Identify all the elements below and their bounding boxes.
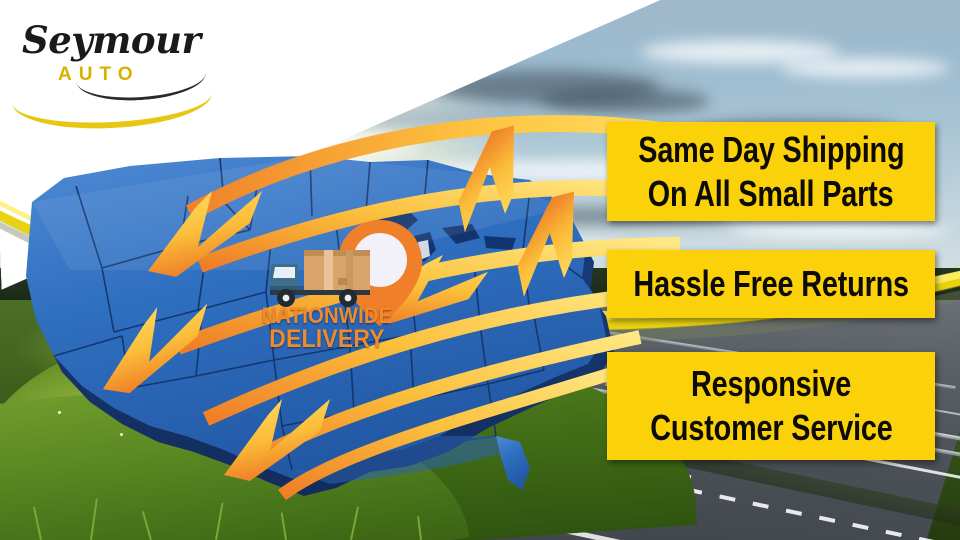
- nationwide-line-2: DELIVERY: [258, 327, 396, 353]
- callout-hassle-free-returns[interactable]: Hassle Free Returns: [607, 250, 935, 318]
- callout-3-line-2: Customer Service: [650, 406, 892, 450]
- callout-1-line-2: On All Small Parts: [648, 172, 894, 216]
- nationwide-line-1: NATIONWIDE: [258, 305, 396, 327]
- logo-subtext: AUTO: [58, 64, 139, 86]
- callout-3-line-1: Responsive: [691, 362, 851, 406]
- lake-erie: [484, 236, 516, 250]
- florida: [496, 436, 530, 490]
- callout-same-day-shipping[interactable]: Same Day Shipping On All Small Parts: [607, 122, 935, 221]
- callout-responsive-customer-service[interactable]: Responsive Customer Service: [607, 352, 935, 460]
- brand-logo[interactable]: Seymour AUTO: [18, 16, 203, 102]
- callout-1-line-1: Same Day Shipping: [638, 128, 904, 172]
- delivery-truck-icon: [268, 248, 378, 310]
- callout-2-line-1: Hassle Free Returns: [633, 264, 908, 304]
- nationwide-delivery-label: NATIONWIDE DELIVERY: [252, 305, 402, 353]
- promo-banner: Seymour AUTO: [0, 0, 960, 540]
- logo-wordmark: Seymour: [22, 18, 200, 62]
